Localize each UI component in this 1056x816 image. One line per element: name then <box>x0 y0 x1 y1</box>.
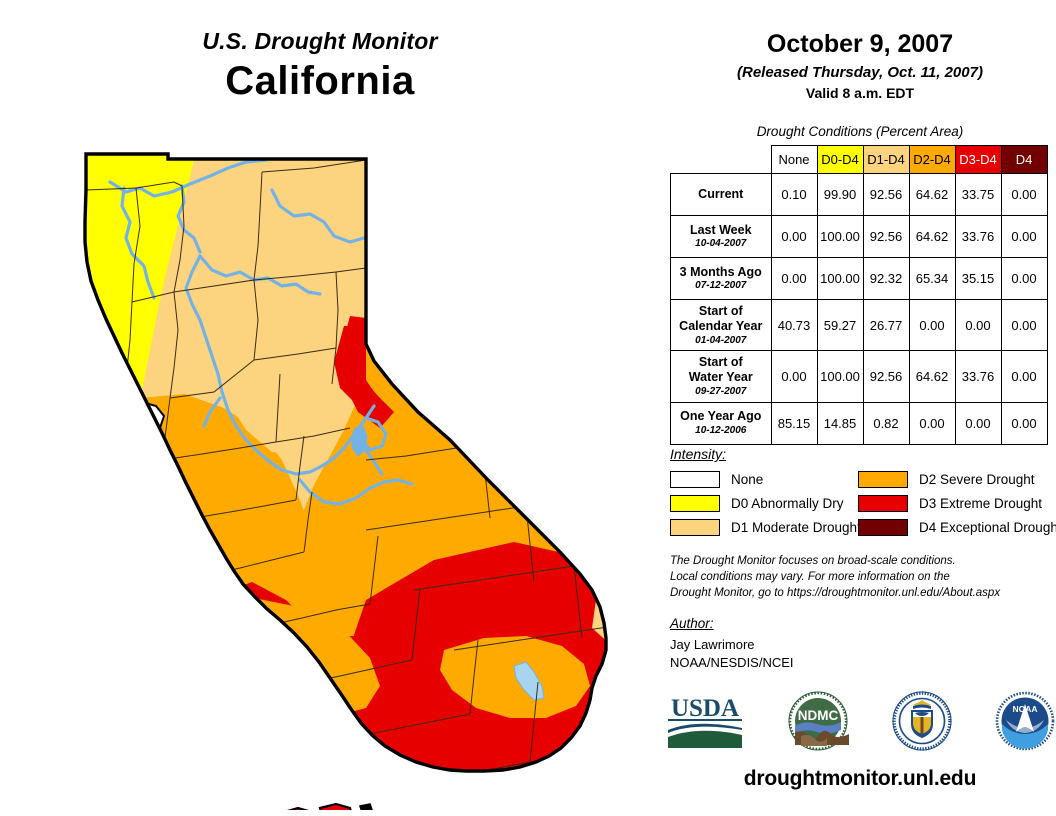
row-label: Start ofCalendar Year01-04-2007 <box>671 300 772 351</box>
table-cell: 0.00 <box>1001 402 1047 444</box>
map-drought-layers <box>14 130 654 810</box>
drought-conditions-table: None D0-D4 D1-D4 D2-D4 D3-D4 D4 Current0… <box>670 145 1048 445</box>
table-cell: 0.00 <box>1001 351 1047 402</box>
author-block: Jay Lawrimore NOAA/NESDIS/NCEI <box>670 636 794 673</box>
legend-item: D1 Moderate Drought <box>670 515 861 539</box>
legend-color-swatch <box>670 519 720 536</box>
row-label: 3 Months Ago07-12-2007 <box>671 258 772 300</box>
table-cell: 85.15 <box>771 402 817 444</box>
row-label-date: 10-04-2007 <box>674 238 768 250</box>
table-cell: 0.00 <box>1001 258 1047 300</box>
table-cell: 0.00 <box>771 351 817 402</box>
map-title-block: U.S. Drought Monitor California <box>0 28 640 104</box>
valid-time: Valid 8 a.m. EDT <box>664 85 1056 101</box>
table-cell: 92.56 <box>863 351 909 402</box>
page-title: California <box>0 59 640 104</box>
column-header-d1: D1-D4 <box>863 146 909 174</box>
legend-color-swatch <box>858 471 908 488</box>
table-cell: 99.90 <box>817 174 863 216</box>
noaa-logo: NOAA <box>994 690 1056 757</box>
table-cell: 92.56 <box>863 174 909 216</box>
table-cell: 0.00 <box>909 402 955 444</box>
column-header-d2: D2-D4 <box>909 146 955 174</box>
usda-logo-text: USDA <box>671 695 739 722</box>
legend-item-label: D2 Severe Drought <box>919 472 1035 487</box>
ndmc-logo-text: NDMC <box>798 708 839 723</box>
table-cell: 0.82 <box>863 402 909 444</box>
table-cell: 65.34 <box>909 258 955 300</box>
table-cell: 0.00 <box>1001 216 1047 258</box>
legend-item: D3 Extreme Drought <box>858 491 1056 515</box>
legend-item: D2 Severe Drought <box>858 467 1056 491</box>
table-cell: 64.62 <box>909 216 955 258</box>
table-row: Current0.1099.9092.5664.6233.750.00 <box>671 174 1048 216</box>
column-header-none: None <box>771 146 817 174</box>
report-header: October 9, 2007 (Released Thursday, Oct.… <box>664 30 1056 101</box>
legend-item: D0 Abnormally Dry <box>670 491 861 515</box>
legend-column-left: NoneD0 Abnormally DryD1 Moderate Drought <box>670 467 861 539</box>
table-cell: 100.00 <box>817 351 863 402</box>
row-label-date: 01-04-2007 <box>674 335 768 347</box>
legend-item-label: D0 Abnormally Dry <box>731 496 844 511</box>
table-cell: 92.32 <box>863 258 909 300</box>
table-row: One Year Ago10-12-200685.1514.850.820.00… <box>671 402 1048 444</box>
table-cell: 33.76 <box>955 351 1001 402</box>
legend-item: None <box>670 467 861 491</box>
table-cell: 0.10 <box>771 174 817 216</box>
table-cell: 0.00 <box>771 216 817 258</box>
table-cell: 26.77 <box>863 300 909 351</box>
table-cell: 35.15 <box>955 258 1001 300</box>
table-cell: 40.73 <box>771 300 817 351</box>
release-date: (Released Thursday, Oct. 11, 2007) <box>664 64 1056 81</box>
table-cell: 100.00 <box>817 216 863 258</box>
row-label: Start ofWater Year09-27-2007 <box>671 351 772 402</box>
intensity-legend-title: Intensity: <box>670 446 726 462</box>
row-label: Current <box>671 174 772 216</box>
author-affiliation: NOAA/NESDIS/NCEI <box>670 654 794 672</box>
table-header-row: None D0-D4 D1-D4 D2-D4 D3-D4 D4 <box>671 146 1048 174</box>
legend-column-right: D2 Severe DroughtD3 Extreme DroughtD4 Ex… <box>858 467 1056 539</box>
usda-seal-logo <box>891 690 953 757</box>
table-cell: 0.00 <box>1001 300 1047 351</box>
issue-date: October 9, 2007 <box>664 30 1056 59</box>
program-title: U.S. Drought Monitor <box>0 28 640 55</box>
table-cell: 92.56 <box>863 216 909 258</box>
note-line-1: The Drought Monitor focuses on broad-sca… <box>670 554 1050 570</box>
table-cell: 33.76 <box>955 216 1001 258</box>
usda-logo: USDA <box>664 690 746 757</box>
ndmc-logo: NDMC <box>787 690 849 757</box>
table-row: Last Week10-04-20070.00100.0092.5664.623… <box>671 216 1048 258</box>
author-heading: Author: <box>670 616 714 631</box>
row-label-date: 10-12-2006 <box>674 425 768 437</box>
legend-item-label: None <box>731 472 763 487</box>
table-cell: 100.00 <box>817 258 863 300</box>
column-header-d4: D4 <box>1001 146 1047 174</box>
row-label-date: 09-27-2007 <box>674 386 768 398</box>
legend-item-label: D3 Extreme Drought <box>919 496 1042 511</box>
table-cell: 0.00 <box>1001 174 1047 216</box>
legend-item: D4 Exceptional Drought <box>858 515 1056 539</box>
column-header-d0: D0-D4 <box>817 146 863 174</box>
table-cell: 0.00 <box>955 300 1001 351</box>
author-name: Jay Lawrimore <box>670 636 794 654</box>
table-cell: 0.00 <box>771 258 817 300</box>
footer-url: droughtmonitor.unl.edu <box>664 767 1056 791</box>
drought-monitor-page: U.S. Drought Monitor California <box>0 0 1056 816</box>
legend-color-swatch <box>858 519 908 536</box>
table-cell: 33.75 <box>955 174 1001 216</box>
row-label: One Year Ago10-12-2006 <box>671 402 772 444</box>
disclaimer-note: The Drought Monitor focuses on broad-sca… <box>670 554 1050 602</box>
partner-logos: USDA NDMC <box>664 690 1056 756</box>
table-cell: 0.00 <box>909 300 955 351</box>
legend-color-swatch <box>670 471 720 488</box>
table-row: Start ofWater Year09-27-20070.00100.0092… <box>671 351 1048 402</box>
table-body: Current0.1099.9092.5664.6233.750.00Last … <box>671 174 1048 445</box>
table-caption: Drought Conditions (Percent Area) <box>664 124 1056 139</box>
channel-islands <box>284 804 408 810</box>
note-line-2: Local conditions may vary. For more info… <box>670 570 1050 586</box>
table-row: Start ofCalendar Year01-04-200740.7359.2… <box>671 300 1048 351</box>
row-label: Last Week10-04-2007 <box>671 216 772 258</box>
california-drought-map <box>14 130 654 810</box>
legend-item-label: D1 Moderate Drought <box>731 520 861 535</box>
table-cell: 14.85 <box>817 402 863 444</box>
table-row: 3 Months Ago07-12-20070.00100.0092.3265.… <box>671 258 1048 300</box>
table-corner-cell <box>671 146 772 174</box>
table-cell: 64.62 <box>909 351 955 402</box>
san-francisco-bay <box>124 402 164 456</box>
note-line-3: Drought Monitor, go to https://droughtmo… <box>670 586 1050 602</box>
legend-color-swatch <box>670 495 720 512</box>
column-header-d3: D3-D4 <box>955 146 1001 174</box>
row-label-date: 07-12-2007 <box>674 280 768 292</box>
table-cell: 59.27 <box>817 300 863 351</box>
legend-color-swatch <box>858 495 908 512</box>
table-cell: 0.00 <box>955 402 1001 444</box>
noaa-logo-text: NOAA <box>1012 704 1037 714</box>
legend-item-label: D4 Exceptional Drought <box>919 520 1056 535</box>
table-cell: 64.62 <box>909 174 955 216</box>
california-map-svg <box>14 130 654 810</box>
